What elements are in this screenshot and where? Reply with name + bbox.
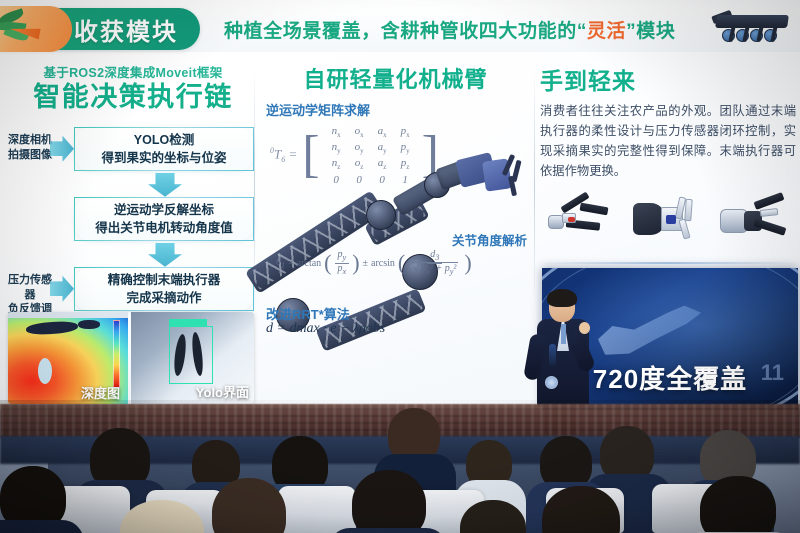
matrix-label: 逆运动学矩阵求解	[258, 100, 533, 119]
projected-slide: 收获模块 种植全场景覆盖，含耕种管收四大功能的“灵活”模块 基于ROS2深度集成…	[0, 0, 800, 410]
chair	[278, 486, 356, 533]
seated-audience	[0, 400, 800, 533]
flow-step-3: 精确控制末端执行器 完成采摘动作	[74, 267, 254, 311]
middle-title: 自研轻量化机械臂	[258, 62, 533, 94]
yolo-detection-image: Yolo界面	[131, 312, 254, 404]
gripper-parallel-jaw-icon	[720, 191, 790, 253]
middle-column: 自研轻量化机械臂 逆运动学矩阵求解 0T6 = [ nxoxaxpx nyoya…	[258, 62, 533, 119]
slide-header: 收获模块 种植全场景覆盖，含耕种管收四大功能的“灵活”模块	[0, 6, 800, 52]
joint-angle-equation: θ1=arctan ( pypx ) ±arcsin ( d3√ px² + p…	[276, 250, 538, 276]
header-badge: 收获模块	[0, 8, 200, 50]
gripper-two-finger-icon	[546, 191, 616, 253]
left-eyebrow: 基于ROS2深度集成Moveit框架	[8, 62, 258, 81]
screenshot-root: 收获模块 种植全场景覆盖，含耕种管收四大功能的“灵活”模块 基于ROS2深度集成…	[0, 0, 800, 533]
vegetable-icon	[0, 6, 72, 52]
flow-step-2: 逆运动学反解坐标 得出关节电机转动角度值	[74, 197, 254, 241]
decision-flow-chart: 深度相机 拍摄图像 压力传感器 负反馈调节 YOLO检测 得到果实的坐标与位姿 …	[8, 127, 258, 337]
subtitle-post: 模块	[636, 21, 675, 42]
right-column: 手到轻来 消费者往往关注农产品的外观。团队通过末端执行器的柔性设计与压力传感器闭…	[540, 62, 796, 182]
header-subtitle: 种植全场景覆盖，含耕种管收四大功能的“灵活”模块	[200, 16, 710, 43]
yolo-caption: Yolo界面	[196, 382, 249, 401]
harvester-machine-icon	[710, 9, 794, 49]
subtitle-highlight: 灵活	[587, 21, 626, 42]
quote-open: “	[577, 21, 587, 42]
flow-step-1: YOLO检测 得到果实的坐标与位姿	[74, 127, 254, 171]
rrt-equation: d = dmax · e − λρobs	[266, 321, 385, 337]
right-title: 手到轻来	[540, 62, 796, 96]
joint-angle-label: 关节角度解析	[452, 230, 527, 249]
right-body-text: 消费者往往关注农产品的外观。团队通过末端执行器的柔性设计与压力传感器闭环控制，实…	[540, 102, 796, 182]
arrow-right-icon	[50, 276, 74, 302]
side-label-depth-camera: 深度相机 拍摄图像	[8, 133, 52, 163]
left-column: 基于ROS2深度集成Moveit框架 智能决策执行链 深度相机 拍摄图像 压力传…	[8, 62, 258, 337]
gripper-image-row	[540, 186, 796, 258]
arrow-right-icon	[50, 136, 74, 162]
subtitle-pre: 种植全场景覆盖，含耕种管收四大功能的	[224, 21, 577, 42]
left-photo-strip: 深度图 Yolo界面	[8, 312, 254, 404]
quote-close: ”	[626, 21, 636, 42]
arrow-down-icon	[148, 243, 182, 267]
arrow-down-icon	[148, 173, 182, 197]
gripper-three-finger-icon	[633, 191, 703, 253]
right-divider	[540, 262, 796, 264]
depth-map-image: 深度图	[8, 312, 128, 404]
left-title: 智能决策执行链	[8, 83, 258, 113]
badge-title: 收获模块	[74, 12, 178, 47]
